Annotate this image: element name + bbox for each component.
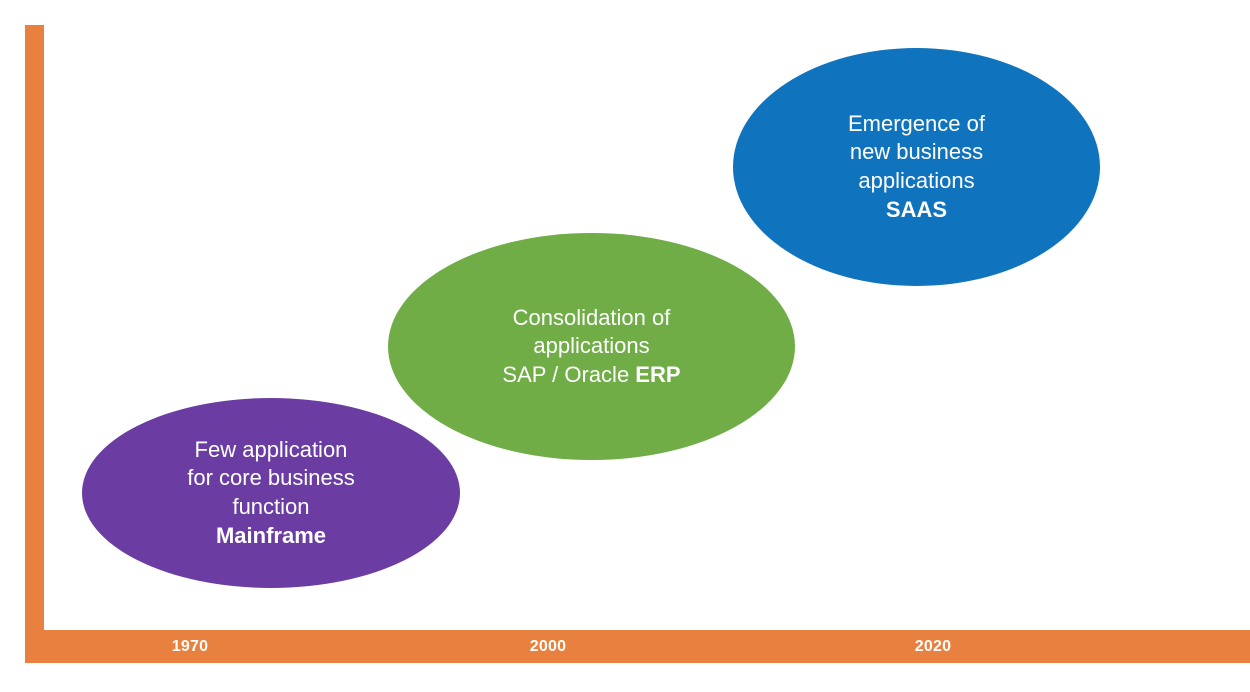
bubble-erp-line-2: applications <box>416 332 766 361</box>
bubble-mainframe-line-1: Few application <box>108 436 433 465</box>
bubble-saas-line-1: Emergence of <box>759 110 1075 139</box>
year-tick-2020: 2020 <box>883 631 983 663</box>
bubble-erp-line-3: SAP / Oracle ERP <box>416 361 766 390</box>
bubble-saas-text: Emergence of new business applications S… <box>759 110 1075 224</box>
year-tick-1970: 1970 <box>140 631 240 663</box>
bubble-mainframe-line-4: Mainframe <box>108 522 433 551</box>
bubble-erp-line-1: Consolidation of <box>416 304 766 333</box>
bubble-saas-line-4: SAAS <box>759 196 1075 225</box>
bubble-mainframe: Few application for core business functi… <box>82 398 460 588</box>
bubble-mainframe-line-2: for core business <box>108 464 433 493</box>
timeline-slide: 1970 2000 2020 Emergence of new business… <box>0 0 1250 692</box>
bubble-erp: Consolidation of applications SAP / Orac… <box>388 233 795 460</box>
bubble-mainframe-text: Few application for core business functi… <box>108 436 433 550</box>
bubble-saas-line-3: applications <box>759 167 1075 196</box>
bubble-erp-line-3-emphasis: ERP <box>635 362 680 387</box>
y-axis-bar <box>25 25 44 663</box>
year-tick-2000: 2000 <box>498 631 598 663</box>
bubble-erp-line-3-prefix: SAP / Oracle <box>502 362 635 387</box>
bubble-erp-text: Consolidation of applications SAP / Orac… <box>416 304 766 390</box>
bubble-saas-line-2: new business <box>759 138 1075 167</box>
bubble-mainframe-line-3: function <box>108 493 433 522</box>
bubble-saas: Emergence of new business applications S… <box>733 48 1100 286</box>
